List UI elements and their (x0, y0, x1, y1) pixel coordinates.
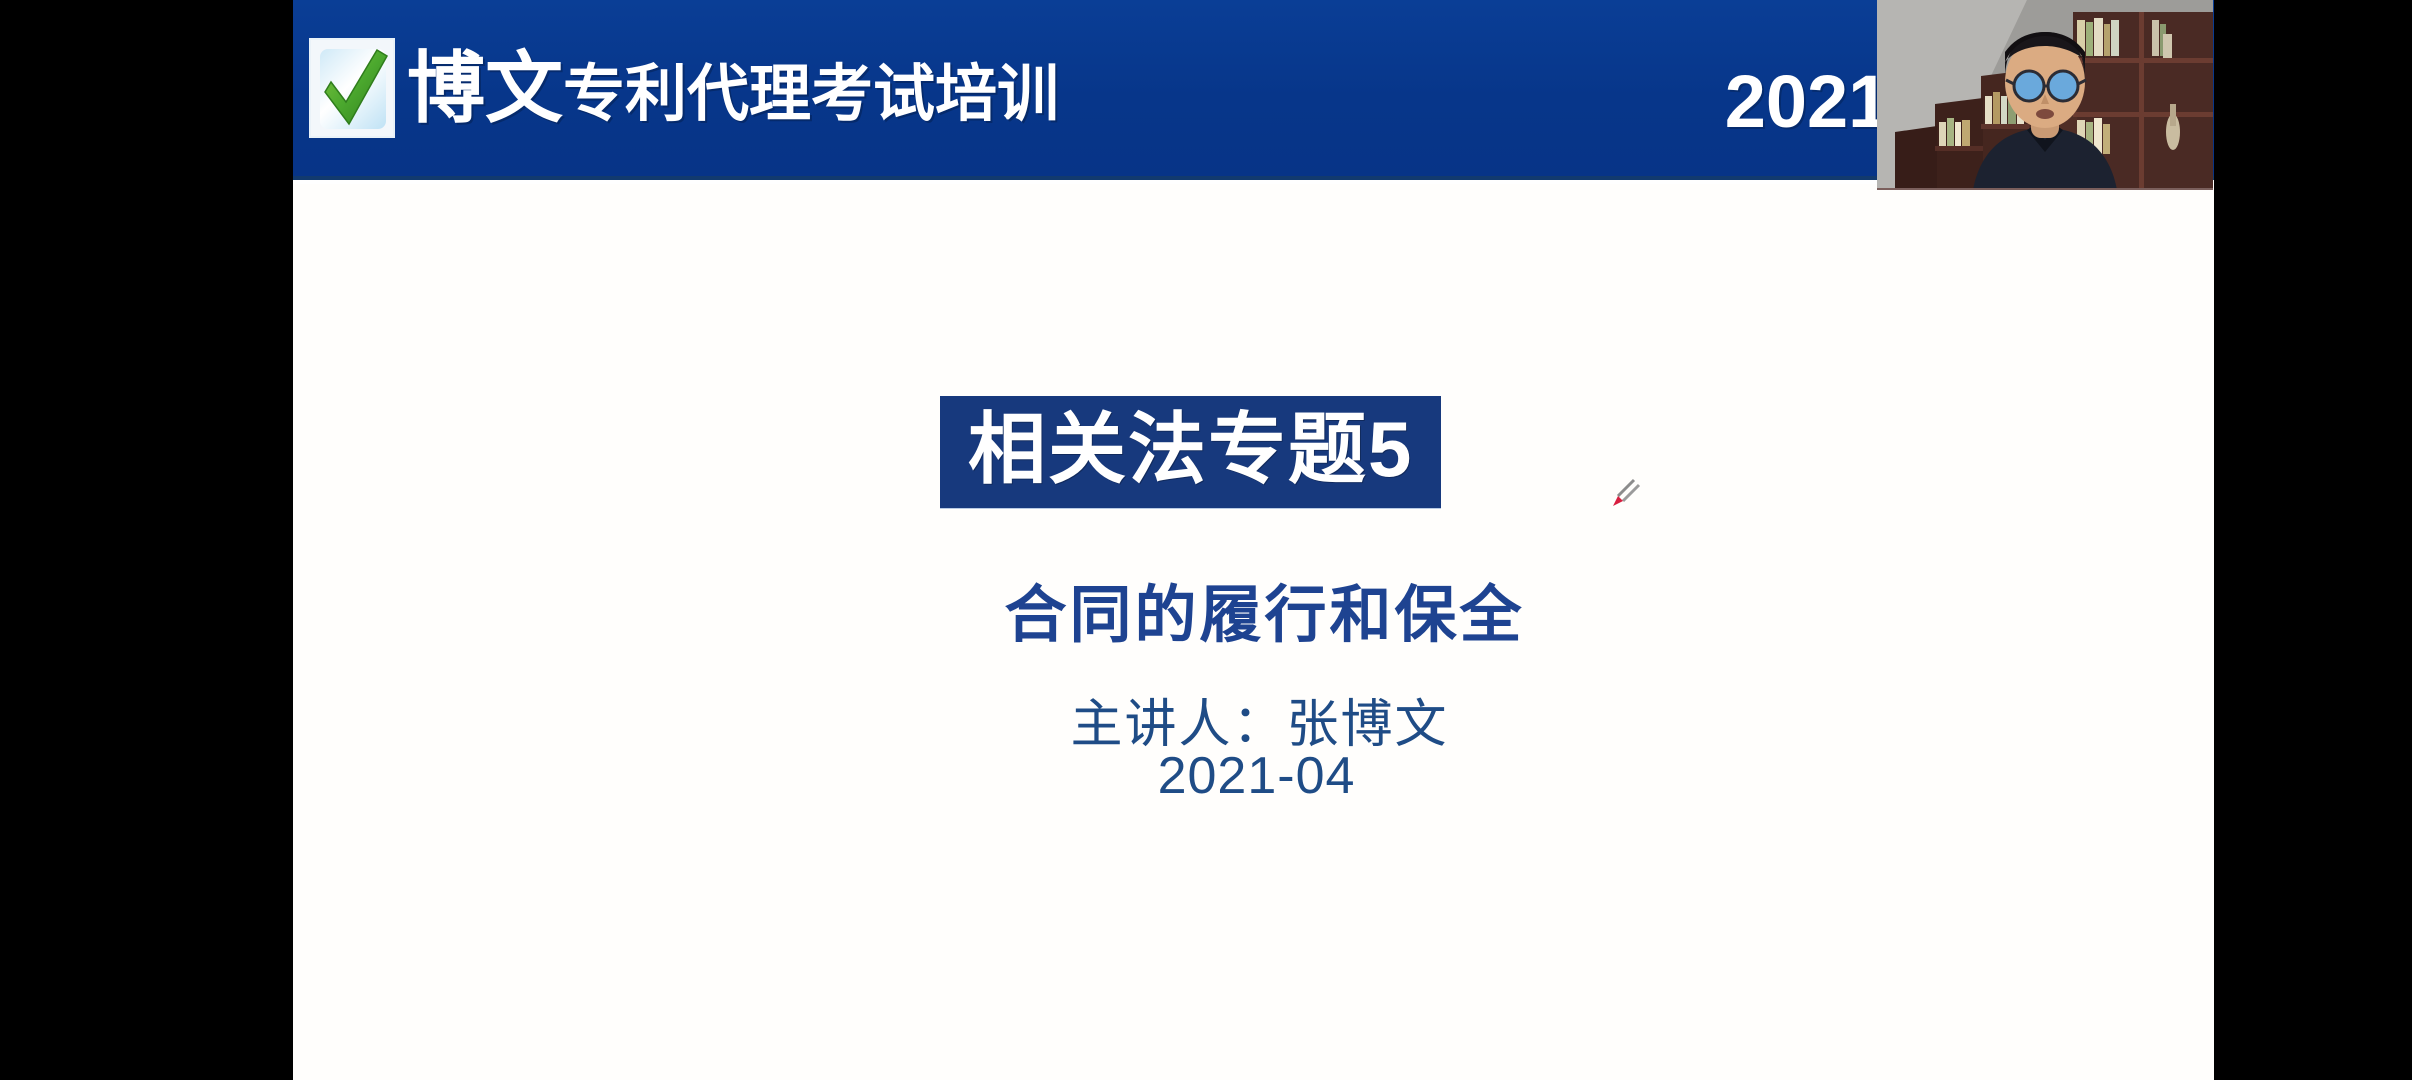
green-check-document-icon (309, 38, 395, 138)
slide-subtitle: 合同的履行和保全 (293, 564, 2214, 654)
slide-title-block: 相关法专题5 (940, 396, 1441, 508)
slide-body: 相关法专题5 合同的履行和保全 主讲人：张博文 2021-04 (293, 184, 2214, 1080)
brand-sub-label: 专利代理考试培训 (563, 64, 1059, 126)
brand-main-label: 博文 (407, 49, 563, 127)
presenter-video-feed[interactable] (1877, 0, 2213, 190)
slide-date-line: 2021-04 (293, 746, 2214, 806)
brand-text: 博文 专利代理考试培训 (407, 49, 1059, 127)
screen-capture-stage: 博文 专利代理考试培训 2021年 相关法专题5 合同的履行和保全 主讲人：张博… (0, 0, 2412, 1080)
brand-lockup: 博文 专利代理考试培训 (309, 38, 1059, 138)
slide-title-text: 相关法专题5 (968, 410, 1413, 488)
